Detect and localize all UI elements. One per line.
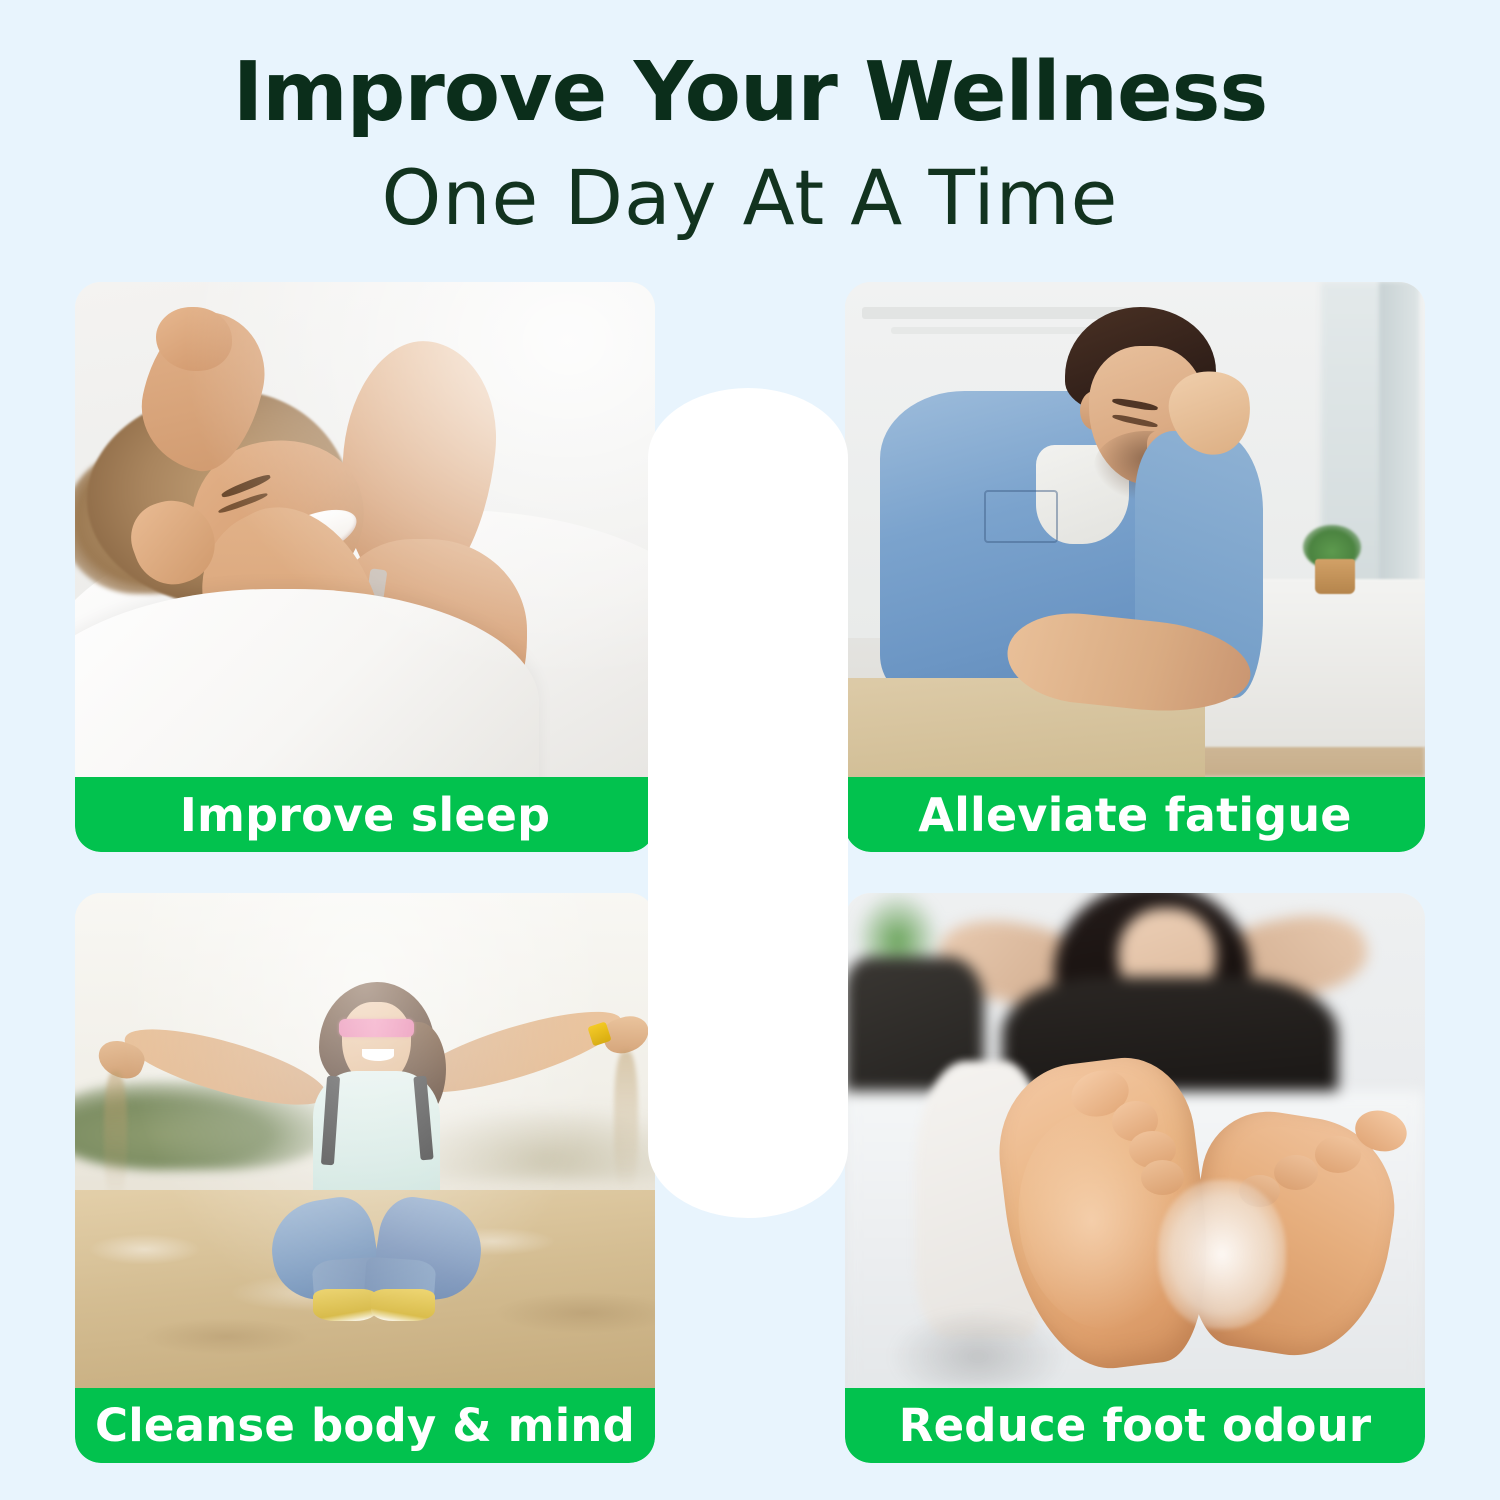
- alleviate-fatigue-photo: [845, 282, 1425, 777]
- improve-sleep-photo: [75, 282, 655, 777]
- center-divider-pill: [648, 388, 848, 1218]
- reduce-foot-odour-label: Reduce foot odour: [899, 1399, 1372, 1452]
- benefit-card-alleviate-fatigue[interactable]: Alleviate fatigue: [845, 282, 1425, 852]
- cleanse-body-and-mind-photo: [75, 893, 655, 1388]
- cleanse-body-and-mind-label-bar: Cleanse body & mind: [75, 1388, 655, 1463]
- reduce-foot-odour-photo: [845, 893, 1425, 1388]
- heading-block: Improve Your Wellness One Day At A Time: [0, 0, 1500, 236]
- page-title: Improve Your Wellness: [0, 0, 1500, 134]
- improve-sleep-label: Improve sleep: [180, 788, 551, 842]
- improve-sleep-label-bar: Improve sleep: [75, 777, 655, 852]
- benefit-card-improve-sleep[interactable]: Improve sleep: [75, 282, 655, 852]
- cleanse-body-and-mind-label: Cleanse body & mind: [95, 1399, 635, 1452]
- reduce-foot-odour-label-bar: Reduce foot odour: [845, 1388, 1425, 1463]
- benefit-card-reduce-foot-odour[interactable]: Reduce foot odour: [845, 893, 1425, 1463]
- alleviate-fatigue-label-bar: Alleviate fatigue: [845, 777, 1425, 852]
- alleviate-fatigue-label: Alleviate fatigue: [918, 788, 1351, 842]
- page-subtitle: One Day At A Time: [0, 134, 1500, 236]
- benefit-card-cleanse-body-and-mind[interactable]: Cleanse body & mind: [75, 893, 655, 1463]
